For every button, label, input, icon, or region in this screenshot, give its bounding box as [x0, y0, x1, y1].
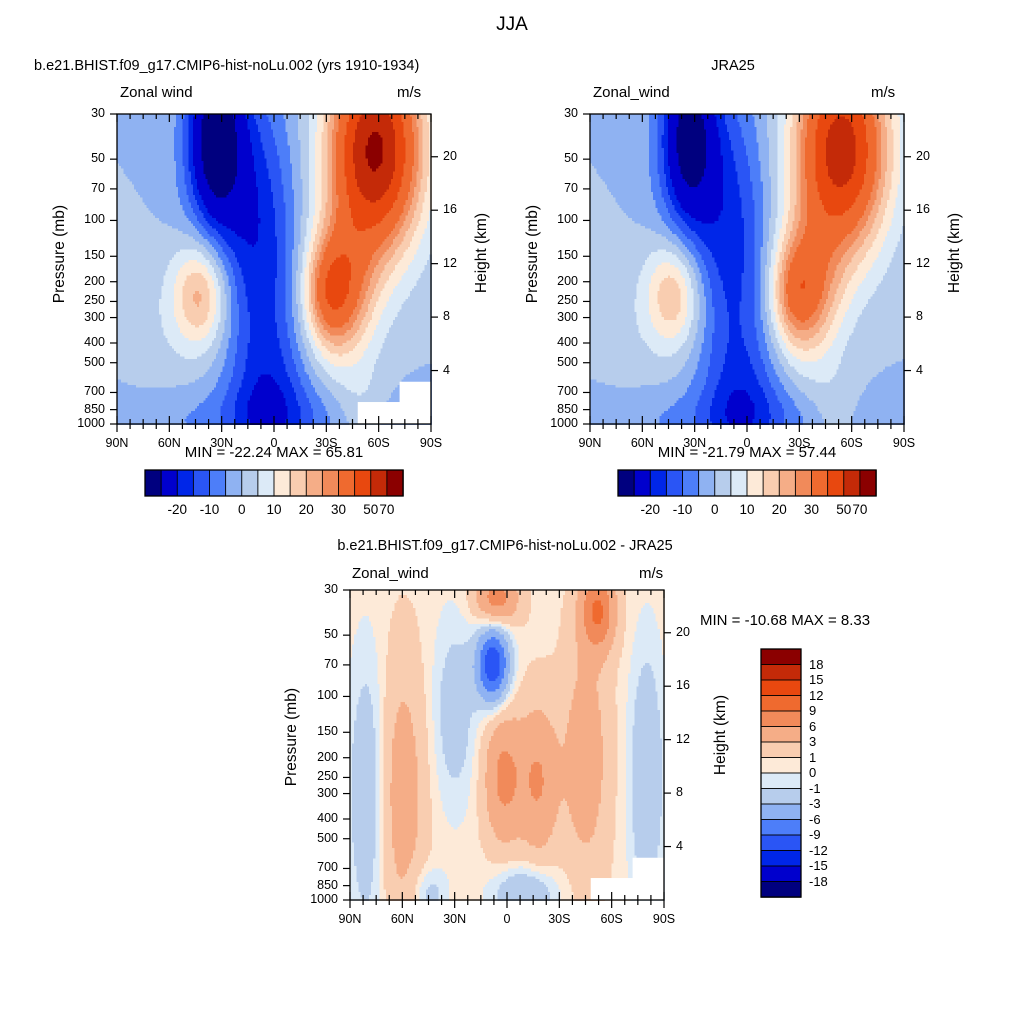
height-tick-label: 16	[916, 202, 930, 216]
pressure-tick-label: 850	[534, 402, 578, 416]
pressure-tick-label: 250	[294, 769, 338, 783]
pressure-tick-label: 1000	[61, 416, 105, 430]
latitude-tick-label: 60S	[832, 436, 872, 450]
pressure-tick-label: 300	[534, 310, 578, 324]
pressure-tick-label: 1000	[294, 892, 338, 906]
pressure-tick-label: 50	[294, 627, 338, 641]
legend-tick-label: 18	[809, 657, 823, 672]
pressure-tick-label: 70	[534, 181, 578, 195]
pressure-tick-label: 250	[534, 293, 578, 307]
legend-tick-label: -18	[809, 874, 828, 889]
legend-tick-label: -3	[809, 796, 821, 811]
height-tick-label: 20	[676, 625, 690, 639]
pressure-tick-label: 1000	[534, 416, 578, 430]
legend-tick-label: 0	[809, 765, 816, 780]
legend-tick-label: 12	[809, 688, 823, 703]
height-tick-label: 8	[916, 309, 923, 323]
latitude-tick-label: 90N	[97, 436, 137, 450]
pressure-tick-label: 100	[61, 212, 105, 226]
pressure-tick-label: 400	[61, 335, 105, 349]
legend-tick-label: 3	[809, 734, 816, 749]
legend-tick-label: 9	[809, 703, 816, 718]
pressure-tick-label: 70	[61, 181, 105, 195]
pressure-tick-label: 50	[61, 151, 105, 165]
pressure-tick-label: 400	[294, 811, 338, 825]
latitude-tick-label: 30N	[202, 436, 242, 450]
legend-tick-label: -1	[809, 781, 821, 796]
pressure-tick-label: 30	[534, 106, 578, 120]
latitude-tick-label: 60S	[592, 912, 632, 926]
legend-tick-label: 1	[809, 750, 816, 765]
latitude-tick-label: 90N	[330, 912, 370, 926]
latitude-tick-label: 0	[727, 436, 767, 450]
latitude-tick-label: 0	[487, 912, 527, 926]
height-tick-label: 12	[916, 256, 930, 270]
height-tick-label: 4	[676, 839, 683, 853]
latitude-tick-label: 30N	[675, 436, 715, 450]
pressure-tick-label: 50	[534, 151, 578, 165]
latitude-tick-label: 30S	[539, 912, 579, 926]
legend-tick-label: -15	[809, 858, 828, 873]
legend-tick-label: 15	[809, 672, 823, 687]
pressure-tick-label: 150	[534, 248, 578, 262]
pressure-tick-label: 200	[534, 274, 578, 288]
height-tick-label: 16	[443, 202, 457, 216]
pressure-tick-label: 250	[61, 293, 105, 307]
latitude-tick-label: 90S	[411, 436, 451, 450]
pressure-tick-label: 500	[534, 355, 578, 369]
pressure-tick-label: 300	[294, 786, 338, 800]
pressure-tick-label: 400	[534, 335, 578, 349]
latitude-tick-label: 30S	[779, 436, 819, 450]
height-tick-label: 12	[676, 732, 690, 746]
panel-c-title: b.e21.BHIST.f09_g17.CMIP6-hist-noLu.002 …	[275, 538, 735, 554]
pressure-tick-label: 700	[61, 384, 105, 398]
pressure-tick-label: 200	[61, 274, 105, 288]
pressure-tick-label: 850	[61, 402, 105, 416]
pressure-tick-label: 30	[61, 106, 105, 120]
pressure-tick-label: 150	[61, 248, 105, 262]
height-tick-label: 8	[443, 309, 450, 323]
legend-tick-label: -9	[809, 827, 821, 842]
latitude-tick-label: 30S	[306, 436, 346, 450]
pressure-tick-label: 200	[294, 750, 338, 764]
pressure-tick-label: 500	[61, 355, 105, 369]
pressure-tick-label: 300	[61, 310, 105, 324]
pressure-tick-label: 150	[294, 724, 338, 738]
pressure-tick-label: 100	[294, 688, 338, 702]
height-tick-label: 4	[443, 363, 450, 377]
colorbar-tick-label: 70	[840, 502, 880, 517]
legend-tick-label: -6	[809, 812, 821, 827]
legend-tick-label: -12	[809, 843, 828, 858]
latitude-tick-label: 60N	[382, 912, 422, 926]
pressure-tick-label: 30	[294, 582, 338, 596]
pressure-tick-label: 100	[534, 212, 578, 226]
height-tick-label: 12	[443, 256, 457, 270]
height-tick-label: 20	[916, 149, 930, 163]
height-tick-label: 4	[916, 363, 923, 377]
latitude-tick-label: 60N	[622, 436, 662, 450]
latitude-tick-label: 0	[254, 436, 294, 450]
pressure-tick-label: 700	[294, 860, 338, 874]
pressure-tick-label: 700	[534, 384, 578, 398]
height-tick-label: 16	[676, 678, 690, 692]
pressure-tick-label: 850	[294, 878, 338, 892]
height-tick-label: 20	[443, 149, 457, 163]
pressure-tick-label: 500	[294, 831, 338, 845]
colorbar-tick-label: 70	[367, 502, 407, 517]
latitude-tick-label: 90S	[884, 436, 924, 450]
latitude-tick-label: 90N	[570, 436, 610, 450]
panel-c-minmax: MIN = -10.68 MAX = 8.33	[700, 612, 940, 629]
pressure-tick-label: 70	[294, 657, 338, 671]
height-tick-label: 8	[676, 785, 683, 799]
latitude-tick-label: 60N	[149, 436, 189, 450]
legend-tick-label: 6	[809, 719, 816, 734]
latitude-tick-label: 90S	[644, 912, 684, 926]
latitude-tick-label: 60S	[359, 436, 399, 450]
latitude-tick-label: 30N	[435, 912, 475, 926]
